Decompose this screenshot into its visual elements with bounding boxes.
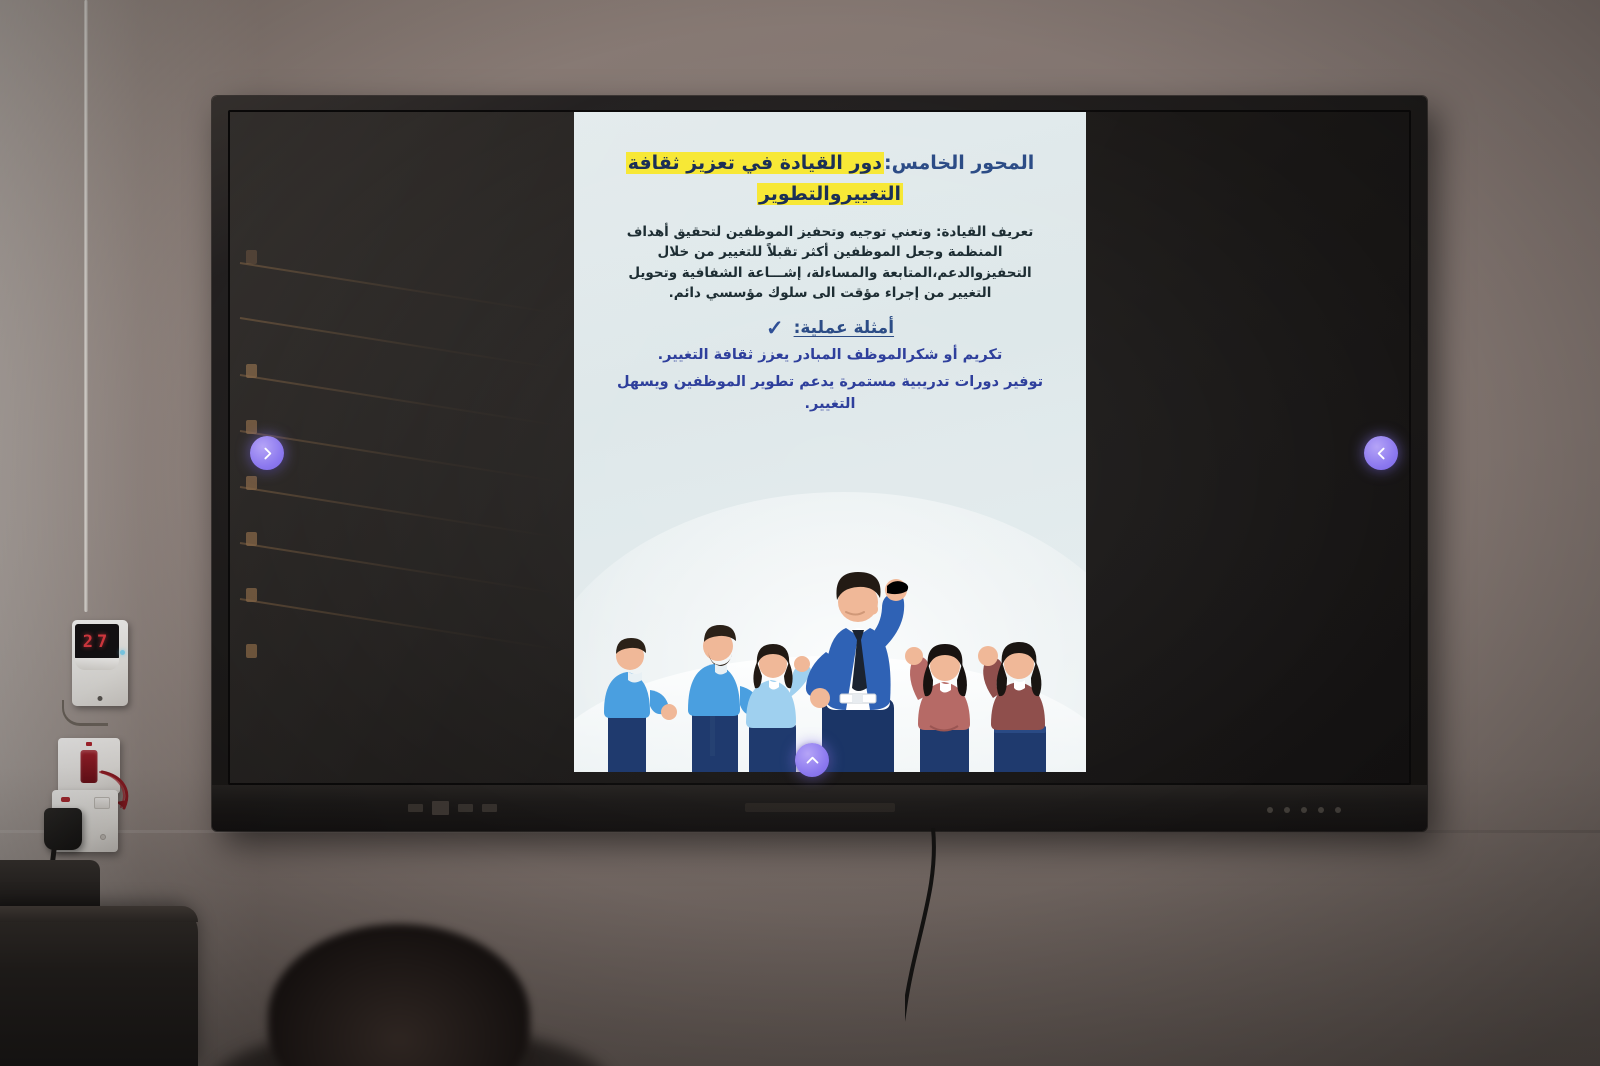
led-status-3 bbox=[1318, 807, 1324, 813]
slide-bullet-heading: أمثلة عملية: bbox=[794, 318, 894, 338]
socket-indicator-led bbox=[61, 797, 70, 802]
chevron-right-icon bbox=[259, 445, 276, 462]
switch-indicator bbox=[86, 742, 92, 746]
thermostat[interactable]: 27 bbox=[72, 620, 128, 706]
ir-sensor-strip bbox=[745, 803, 895, 812]
slide-example-2: توفير دورات تدريبية مستمرة يدعم تطوير ال… bbox=[596, 372, 1064, 416]
led-status-1 bbox=[1284, 807, 1290, 813]
slide-bullet-heading-row: ✓ أمثلة عملية: bbox=[596, 318, 1064, 339]
chevron-left-icon bbox=[1373, 445, 1390, 462]
thermostat-temperature: 27 bbox=[83, 632, 111, 652]
ceiling-conduit-cable bbox=[84, 0, 88, 612]
slide-title-highlight-line1: دور القيادة في تعزيز ثقافة bbox=[626, 152, 884, 174]
slide-content: المحور الخامس:دور القيادة في تعزيز ثقافة… bbox=[574, 112, 1086, 416]
slide-body-paragraph: تعريف القيادة: وتعني توجيه وتحفيز الموظف… bbox=[596, 222, 1064, 304]
led-status-4 bbox=[1335, 807, 1341, 813]
slide-previous-button[interactable] bbox=[1364, 436, 1398, 470]
toolbar-expand-button[interactable] bbox=[795, 743, 829, 777]
socket-switch[interactable] bbox=[94, 797, 110, 809]
port-aux[interactable] bbox=[458, 804, 473, 812]
slide-example-1: تكريم أو شكرالموظف المبادر يعزز ثقافة ال… bbox=[596, 345, 1064, 367]
power-plug bbox=[44, 808, 82, 850]
switch-rocker[interactable] bbox=[81, 750, 98, 783]
room-scene: المحور الخامس:دور القيادة في تعزيز ثقافة… bbox=[0, 0, 1600, 1066]
port-usb[interactable] bbox=[408, 804, 423, 812]
thermostat-status-led bbox=[120, 650, 125, 655]
celebrating-team-illustration bbox=[574, 540, 1086, 772]
foreground-furniture bbox=[0, 906, 198, 1066]
port-hdmi[interactable] bbox=[432, 801, 449, 815]
display-ports[interactable] bbox=[408, 801, 497, 815]
display-bottom-bezel bbox=[212, 785, 1427, 831]
interactive-display[interactable]: المحور الخامس:دور القيادة في تعزيز ثقافة… bbox=[212, 96, 1427, 831]
display-screen[interactable]: المحور الخامس:دور القيادة في تعزيز ثقافة… bbox=[228, 110, 1411, 785]
slide-next-button[interactable] bbox=[250, 436, 284, 470]
led-status-2 bbox=[1301, 807, 1307, 813]
slide-title-highlight-line2: التغييروالتطوير bbox=[757, 183, 903, 205]
thermostat-wire bbox=[62, 700, 108, 726]
audience-head bbox=[268, 924, 530, 1066]
checkmark-icon: ✓ bbox=[766, 318, 784, 339]
led-power bbox=[1267, 807, 1273, 813]
display-power-cable bbox=[905, 828, 1085, 1066]
thermostat-cover bbox=[75, 658, 119, 670]
port-audio[interactable] bbox=[482, 804, 497, 812]
chevron-up-icon bbox=[804, 752, 821, 769]
slide-title-prefix: المحور الخامس: bbox=[884, 152, 1034, 174]
slide-title: المحور الخامس:دور القيادة في تعزيز ثقافة… bbox=[596, 148, 1064, 210]
thermostat-display: 27 bbox=[75, 624, 119, 660]
furniture-top-edge bbox=[0, 906, 198, 922]
display-indicator-leds bbox=[1267, 807, 1341, 813]
socket-screw bbox=[100, 834, 106, 840]
